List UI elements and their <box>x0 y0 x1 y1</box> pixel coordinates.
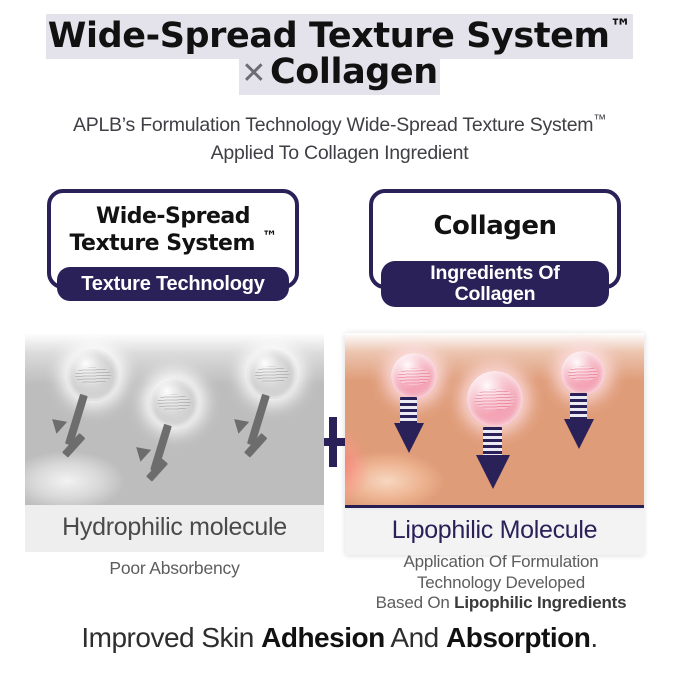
panel-hydrophilic: Hydrophilic molecule <box>25 333 324 552</box>
infographic-page: Wide-Spread Texture System™ ✕Collagen AP… <box>0 0 679 679</box>
molecule-bubble <box>247 349 297 399</box>
badge-texture-technology: Texture Technology <box>57 267 289 301</box>
title-line-1: Wide-Spread Texture System™ <box>0 18 679 54</box>
footer-statement: Improved Skin Adhesion And Absorption. <box>0 622 679 654</box>
cross-symbol: ✕ <box>241 56 270 91</box>
trademark-symbol: ™ <box>593 112 606 127</box>
caption-lipophilic: Lipophilic Molecule <box>345 505 644 555</box>
molecule-bubble <box>561 351 605 395</box>
page-title: Wide-Spread Texture System™ ✕Collagen <box>0 18 679 91</box>
caption-hydrophilic: Hydrophilic molecule <box>25 505 324 552</box>
trademark-symbol: ™ <box>262 228 277 246</box>
rebound-arrow <box>133 425 181 483</box>
penetration-arrow <box>570 393 587 449</box>
card-left-title: Wide-Spread Texture System ™ <box>51 204 295 258</box>
subcaption-right-line-2: Technology Developed <box>345 573 657 594</box>
panel-lipophilic: Lipophilic Molecule <box>345 333 644 555</box>
card-right-title: Collagen <box>373 211 617 242</box>
molecule-bubble <box>391 353 437 399</box>
comparison-cards: Wide-Spread Texture System ™ Texture Tec… <box>0 189 679 321</box>
subcaption-right-line-3-bold: Lipophilic Ingredients <box>454 593 626 612</box>
subcaption-right-line-3: Based On Lipophilic Ingredients <box>345 593 657 614</box>
badge-ingredients-of-collagen: Ingredients Of Collagen <box>381 261 609 307</box>
subtitle-line-1: APLB’s Formulation Technology Wide-Sprea… <box>0 112 679 140</box>
penetration-arrow <box>483 427 502 489</box>
subcaption-right-line-1: Application Of Formulation <box>345 552 657 573</box>
rebound-arrow <box>231 395 279 453</box>
hydrophilic-illustration <box>25 333 324 505</box>
page-subtitle: APLB’s Formulation Technology Wide-Sprea… <box>0 112 679 167</box>
trademark-symbol: ™ <box>610 15 632 40</box>
subtitle-line-2: Applied To Collagen Ingredient <box>0 140 679 168</box>
footer-bold-absorption: Absorption <box>446 622 590 653</box>
molecule-bubble <box>467 371 523 427</box>
badge-right-line-1: Ingredients Of <box>430 263 559 284</box>
subcaption-lipophilic-application: Application Of Formulation Technology De… <box>345 552 657 614</box>
rebound-arrow <box>49 395 97 453</box>
footer-suffix: . <box>590 622 597 653</box>
badge-right-line-2: Collagen <box>430 284 559 305</box>
molecule-bubble <box>67 349 119 401</box>
title-line-2: ✕Collagen <box>0 54 679 90</box>
footer-middle: And <box>385 622 446 653</box>
card-left-title-line-1: Wide-Spread <box>51 204 295 231</box>
penetration-arrow <box>400 397 417 453</box>
lipophilic-illustration <box>345 333 644 505</box>
card-left-title-line-2: Texture System ™ <box>51 231 295 258</box>
title-line-2-text: ✕Collagen <box>239 50 440 95</box>
footer-prefix: Improved Skin <box>81 622 261 653</box>
footer-bold-adhesion: Adhesion <box>261 622 385 653</box>
molecule-bubble <box>149 377 199 427</box>
subcaption-poor-absorbency: Poor Absorbency <box>25 558 324 579</box>
